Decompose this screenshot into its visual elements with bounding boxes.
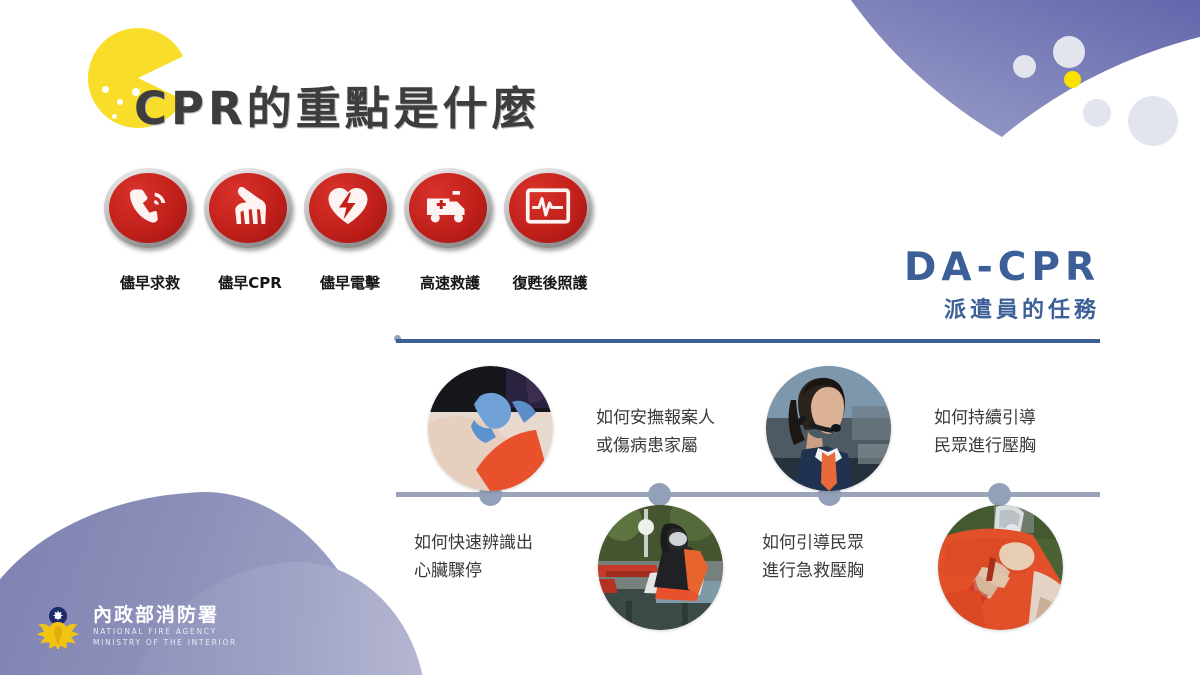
heart-defibrillation-icon xyxy=(321,182,375,234)
chain-item-label: 儘早求救 xyxy=(100,272,200,293)
chain-item-call-for-help[interactable]: 儘早求救 xyxy=(100,168,200,293)
timeline-photo-outdoor-rescue-drill[interactable] xyxy=(598,505,723,630)
ambulance-icon xyxy=(421,182,475,234)
badge xyxy=(102,168,198,248)
timeline-photo-gloved-hand-on-patient[interactable] xyxy=(428,366,553,491)
deco-circle-yellow xyxy=(1064,71,1081,88)
national-fire-agency-emblem-icon xyxy=(36,605,80,649)
timeline-caption-4: 如何持續引導 民眾進行壓胸 xyxy=(934,405,1036,460)
footer-logo: 內政部消防署 NATIONAL FIRE AGENCY MINISTRY OF … xyxy=(36,605,237,649)
dacpr-subtitle: 派遣員的任務 xyxy=(904,292,1100,324)
caption-line-1: 如何安撫報案人 xyxy=(596,405,715,433)
badge xyxy=(202,168,298,248)
deco-circle-large xyxy=(1128,96,1178,146)
badge xyxy=(302,168,398,248)
org-name-en-line1: NATIONAL FIRE AGENCY xyxy=(93,627,237,638)
deco-circle-medium-2 xyxy=(1083,99,1111,127)
caption-line-1: 如何快速辨識出 xyxy=(414,530,533,558)
phone-call-icon xyxy=(121,182,175,234)
dacpr-title: DA-CPR xyxy=(904,248,1100,289)
chain-item-fast-transport[interactable]: 高速救護 xyxy=(400,168,500,293)
dispatcher-with-headset-photo xyxy=(766,366,891,491)
org-name-en-line2: MINISTRY OF THE INTERIOR xyxy=(93,638,237,649)
timeline-photo-chest-compression-hands[interactable] xyxy=(938,505,1063,630)
gloved-hand-on-patient-photo xyxy=(428,366,553,491)
deco-circle-medium xyxy=(1053,36,1085,68)
badge xyxy=(402,168,498,248)
section-divider xyxy=(396,339,1100,343)
ecg-monitor-icon xyxy=(521,182,575,234)
chain-item-early-cpr[interactable]: 儘早CPR xyxy=(200,168,300,293)
caption-line-2: 進行急救壓胸 xyxy=(762,558,864,586)
timeline-caption-1: 如何快速辨識出 心臟驟停 xyxy=(414,530,533,585)
caption-line-2: 或傷病患家屬 xyxy=(596,433,715,461)
caption-line-1: 如何引導民眾 xyxy=(762,530,864,558)
chain-item-label: 復甦後照護 xyxy=(500,272,600,293)
deco-circle-small xyxy=(1013,55,1036,78)
chain-of-survival-strip: 儘早求救 儘早CPR xyxy=(100,168,600,293)
badge xyxy=(502,168,598,248)
cpr-hands-icon xyxy=(221,182,275,234)
page-title: CPR的重點是什麼 xyxy=(134,72,541,137)
caption-line-1: 如何持續引導 xyxy=(934,405,1036,433)
caption-line-2: 心臟驟停 xyxy=(414,558,533,586)
chain-item-label: 儘早CPR xyxy=(200,272,300,293)
chain-item-early-defibrillation[interactable]: 儘早電擊 xyxy=(300,168,400,293)
chest-compression-hands-photo xyxy=(938,505,1063,630)
slide-canvas: CPR的重點是什麼 儘早求救 xyxy=(0,0,1200,675)
timeline-caption-3: 如何引導民眾 進行急救壓胸 xyxy=(762,530,864,585)
dacpr-heading: DA-CPR 派遣員的任務 xyxy=(904,248,1100,324)
chain-item-label: 高速救護 xyxy=(400,272,500,293)
org-name-zh: 內政部消防署 xyxy=(93,605,237,627)
chain-item-post-resuscitation-care[interactable]: 復甦後照護 xyxy=(500,168,600,293)
caption-line-2: 民眾進行壓胸 xyxy=(934,433,1036,461)
chain-item-label: 儘早電擊 xyxy=(300,272,400,293)
timeline-photo-dispatcher-with-headset[interactable] xyxy=(766,366,891,491)
outdoor-rescue-drill-photo xyxy=(598,505,723,630)
timeline-caption-2: 如何安撫報案人 或傷病患家屬 xyxy=(596,405,715,460)
